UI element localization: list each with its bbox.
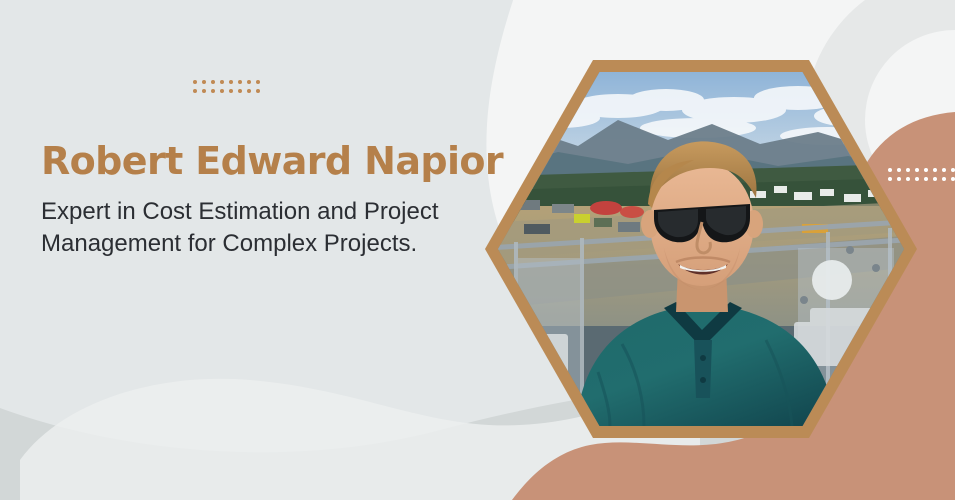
dot: [229, 89, 233, 93]
dot: [933, 168, 937, 172]
dot: [256, 80, 260, 84]
hexagon-portrait: [485, 60, 917, 438]
dot: [238, 89, 242, 93]
dot-grid-left: [193, 80, 471, 96]
text-block: Robert Edward Napior Expert in Cost Esti…: [41, 80, 471, 261]
dot: [933, 177, 937, 181]
dot: [924, 168, 928, 172]
dot: [211, 80, 215, 84]
page-title: Robert Edward Napior: [41, 142, 471, 182]
dot: [247, 89, 251, 93]
dot: [220, 80, 224, 84]
dot: [220, 89, 224, 93]
dot: [238, 80, 242, 84]
dot: [924, 177, 928, 181]
profile-banner: Robert Edward Napior Expert in Cost Esti…: [0, 0, 955, 500]
dot: [202, 80, 206, 84]
dot: [211, 89, 215, 93]
dot: [256, 89, 260, 93]
dot: [942, 177, 946, 181]
dot: [942, 168, 946, 172]
dot: [951, 168, 955, 172]
dot: [193, 89, 197, 93]
dot: [202, 89, 206, 93]
dot: [229, 80, 233, 84]
dot: [247, 80, 251, 84]
page-subtitle: Expert in Cost Estimation and Project Ma…: [41, 196, 471, 261]
dot: [193, 80, 197, 84]
dot: [951, 177, 955, 181]
